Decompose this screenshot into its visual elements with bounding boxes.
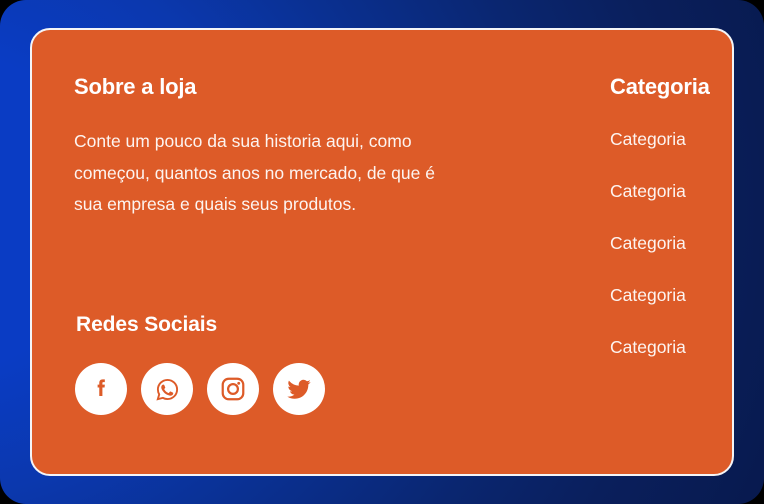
category-link-3[interactable]: Categoria (610, 233, 734, 254)
social-link-instagram[interactable] (207, 363, 259, 415)
categories-title: Categoria (610, 74, 734, 100)
about-store-title: Sobre a loja (74, 74, 474, 100)
social-media-column: Redes Sociais (76, 312, 416, 415)
whatsapp-icon (153, 375, 182, 404)
category-link-5[interactable]: Categoria (610, 337, 734, 358)
category-link-2[interactable]: Categoria (610, 181, 734, 202)
about-store-column: Sobre a loja Conte um pouco da sua histo… (74, 74, 474, 220)
social-link-facebook[interactable] (75, 363, 127, 415)
social-icon-row (75, 363, 416, 415)
categories-column: Categoria Categoria Categoria Categoria … (610, 74, 734, 358)
store-footer-card: Sobre a loja Conte um pouco da sua histo… (30, 28, 734, 476)
categories-list: Categoria Categoria Categoria Categoria … (610, 129, 734, 358)
category-link-1[interactable]: Categoria (610, 129, 734, 150)
twitter-icon (285, 375, 313, 403)
about-store-description: Conte um pouco da sua historia aqui, com… (74, 126, 454, 219)
category-link-4[interactable]: Categoria (610, 285, 734, 306)
page-viewport: Sobre a loja Conte um pouco da sua histo… (0, 0, 764, 504)
facebook-icon (87, 375, 115, 403)
social-media-title: Redes Sociais (76, 312, 416, 337)
social-link-twitter[interactable] (273, 363, 325, 415)
social-link-whatsapp[interactable] (141, 363, 193, 415)
instagram-icon (219, 375, 247, 403)
footer-card-content: Sobre a loja Conte um pouco da sua histo… (32, 30, 732, 474)
